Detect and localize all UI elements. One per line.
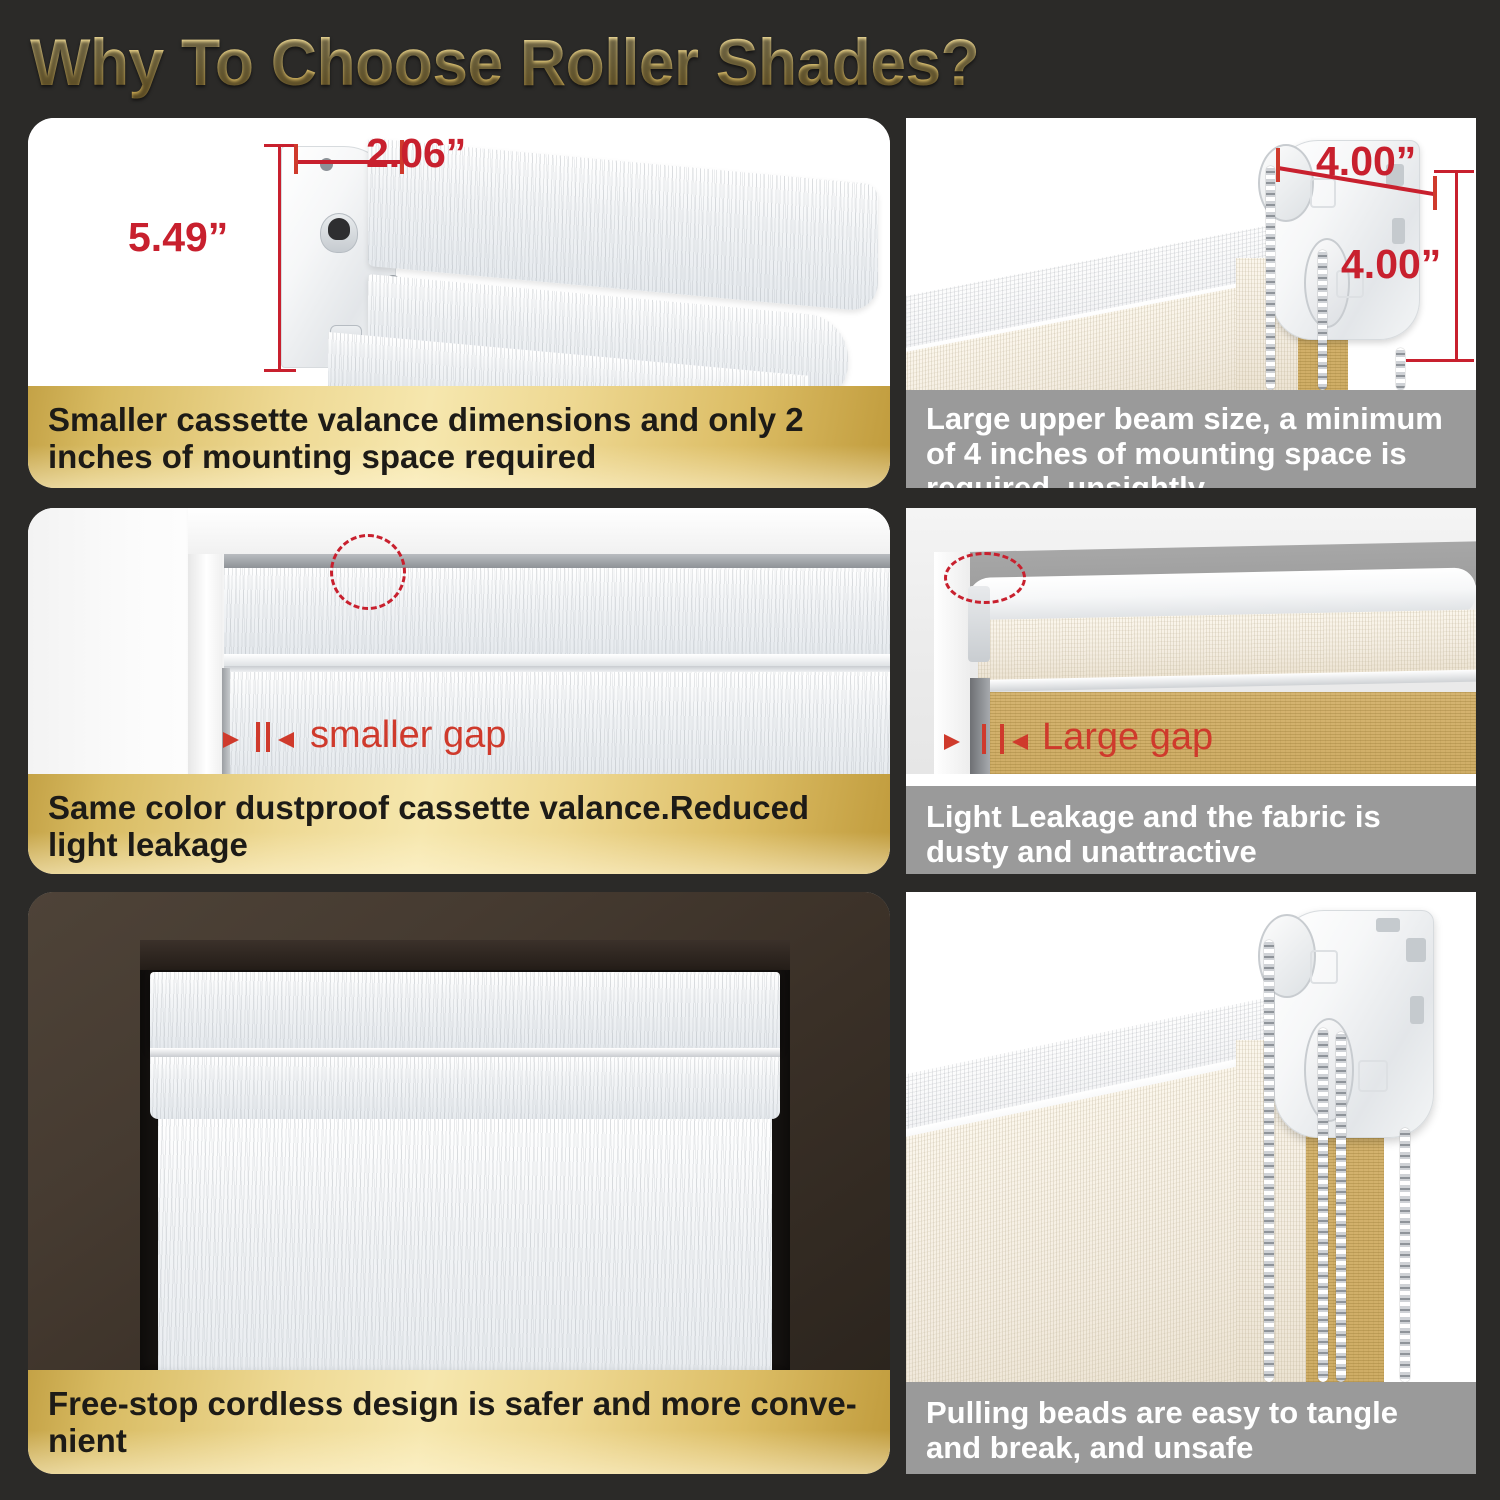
panel-5-caption-bar: Free-stop cordless design is safer and m… xyxy=(28,1370,890,1474)
bead-chain-front xyxy=(1266,166,1275,390)
dim-line-beam-height xyxy=(1455,170,1458,362)
bracket-clutch-disc-lower xyxy=(1304,1018,1354,1122)
dim-tick-beam-right xyxy=(1433,176,1437,210)
panel-3-photo: smaller gap xyxy=(28,508,890,774)
panel-4-photo: Large gap xyxy=(906,508,1476,774)
shade-body xyxy=(158,1119,772,1370)
gap-highlight-circle xyxy=(330,534,406,610)
bracket-emboss-lower xyxy=(1358,1060,1388,1092)
panel-3-caption-bar: Same color dustproof cassette valance.Re… xyxy=(28,774,890,874)
valance-seam xyxy=(150,1048,780,1057)
bead-chain-loop xyxy=(1400,1128,1410,1382)
gap-label-smaller: smaller gap xyxy=(310,714,506,757)
gap-tick-a xyxy=(256,722,260,752)
panel-4-caption-text: Light Leakage and the fabric is dusty an… xyxy=(926,800,1456,869)
panel-1-photo: 2.06” 5.49” xyxy=(28,118,890,386)
panel-5-caption-text: Free-stop cordless design is safer and m… xyxy=(48,1386,870,1460)
bracket-emboss-upper xyxy=(1310,950,1338,984)
dim-label-height: 5.49” xyxy=(128,214,228,261)
infographic-page: Why To Choose Roller Shades? 2.06” xyxy=(0,0,1500,1500)
panel-1-caption-text: Smaller cassette valance dimensions and … xyxy=(48,402,870,476)
end-cap-clutch-slot xyxy=(328,218,350,240)
dim-line-height xyxy=(278,144,281,372)
gap-arrow-left xyxy=(223,732,239,748)
panel-6-caption-bar: Pulling beads are easy to tangle and bre… xyxy=(906,1382,1476,1474)
gap-tick-b xyxy=(266,722,270,752)
gap-tick-b xyxy=(1000,724,1004,754)
dim-tick-width-left xyxy=(294,144,298,174)
bead-chain-front xyxy=(1264,940,1274,1382)
panel-smaller-cassette: 2.06” 5.49” Smaller cassette valance dim… xyxy=(28,118,890,488)
panel-6-caption-text: Pulling beads are easy to tangle and bre… xyxy=(926,1396,1456,1465)
dim-cap-height-bottom xyxy=(264,369,296,372)
dim-tick-beam-left xyxy=(1276,148,1280,182)
panel-2-photo: 4.00” 4.00” xyxy=(906,118,1476,390)
bracket-slot-top xyxy=(1376,918,1400,932)
gap-highlight-circle xyxy=(944,552,1026,604)
window-frame-head xyxy=(188,508,890,554)
bead-chain-back xyxy=(1318,250,1327,390)
dim-cap-beam-bottom xyxy=(1406,359,1474,362)
light-gap-column xyxy=(222,668,230,774)
title-bar: Why To Choose Roller Shades? xyxy=(30,18,1470,106)
light-gap-large xyxy=(970,678,990,774)
page-title: Why To Choose Roller Shades? xyxy=(30,24,979,100)
gap-arrow-right xyxy=(278,732,294,748)
gap-label-large: Large gap xyxy=(1042,716,1213,759)
window-recess-head xyxy=(140,940,790,970)
gap-arrow-left xyxy=(944,734,960,750)
valance-bottom-edge xyxy=(224,654,890,666)
dim-cap-beam-top xyxy=(1434,170,1474,173)
gap-tick-a xyxy=(982,724,986,754)
gap-arrow-right xyxy=(1012,734,1028,750)
cassette-valance xyxy=(150,972,780,1048)
dim-label-width: 2.06” xyxy=(366,130,466,177)
bracket-slot-upper xyxy=(1406,938,1426,962)
bead-chain-loop xyxy=(1396,348,1405,390)
valance-fabric-band xyxy=(224,568,890,654)
panel-1-caption-bar: Smaller cassette valance dimensions and … xyxy=(28,386,890,488)
panel-5-photo xyxy=(28,892,890,1370)
panel-6-photo xyxy=(906,892,1476,1382)
panel-3-caption-text: Same color dustproof cassette valance.Re… xyxy=(48,790,870,864)
bead-chain-middle xyxy=(1318,1028,1328,1382)
cassette-roll xyxy=(150,1057,780,1119)
panel-pulling-beads: Pulling beads are easy to tangle and bre… xyxy=(906,892,1476,1474)
bracket-slot-lower xyxy=(1410,996,1424,1024)
panel-cordless-design: Free-stop cordless design is safer and m… xyxy=(28,892,890,1474)
dim-label-beam-height: 4.00” xyxy=(1341,241,1441,288)
bead-chain-back xyxy=(1336,1032,1346,1382)
panel-4-caption-bar: Light Leakage and the fabric is dusty an… xyxy=(906,786,1476,874)
panel-large-upper-beam: 4.00” 4.00” Large upper beam size, a min… xyxy=(906,118,1476,488)
dim-cap-height-top xyxy=(264,144,296,147)
cassette-head-rail xyxy=(224,554,890,568)
dim-label-beam-width: 4.00” xyxy=(1316,138,1416,185)
panel-dustproof-valance: smaller gap Same color dustproof cassett… xyxy=(28,508,890,874)
panel-2-caption-bar: Large upper beam size, a minimum of 4 in… xyxy=(906,390,1476,488)
panel-light-leakage: Large gap Light Leakage and the fabric i… xyxy=(906,508,1476,874)
panel-2-caption-text: Large upper beam size, a minimum of 4 in… xyxy=(926,402,1456,488)
